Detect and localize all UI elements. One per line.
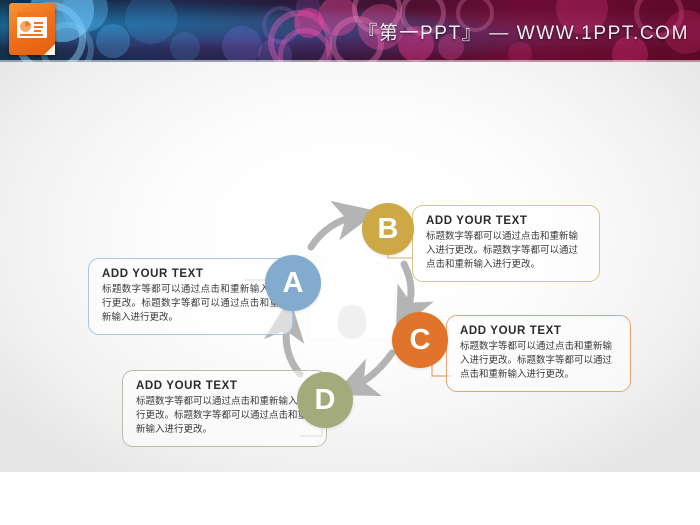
bokeh-circle <box>96 24 130 58</box>
text-box-d-title: ADD YOUR TEXT <box>136 380 313 392</box>
text-box-b[interactable]: ADD YOUR TEXT 标题数字等都可以通过点击和重新输入进行更改。标题数字… <box>412 205 600 282</box>
footer-bar: 第一PPT HTTP://WWW.1PPT.COM <box>0 472 700 525</box>
node-circle-b[interactable]: B <box>362 203 414 255</box>
text-box-c[interactable]: ADD YOUR TEXT 标题数字等都可以通过点击和重新输入进行更改。标题数字… <box>446 315 631 392</box>
bokeh-circle <box>125 0 177 44</box>
text-box-d[interactable]: ADD YOUR TEXT 标题数字等都可以通过点击和重新输入进行更改。标题数字… <box>122 370 327 447</box>
curved-arrow-c-to-d <box>354 353 392 386</box>
logo-card-shape <box>17 12 47 38</box>
text-box-c-title: ADD YOUR TEXT <box>460 325 617 337</box>
powerpoint-document-icon <box>9 3 55 55</box>
header-banner: 『第一PPT』 — WWW.1PPT.COM <box>0 0 700 62</box>
text-box-b-title: ADD YOUR TEXT <box>426 215 586 227</box>
slide-canvas: 『第一PPT』 — WWW.1PPT.COM <box>0 0 700 525</box>
logo-line <box>20 34 43 36</box>
text-box-d-body: 标题数字等都可以通过点击和重新输入进行更改。标题数字等都可以通过点击和重新输入进… <box>136 395 313 437</box>
bokeh-circle <box>508 42 532 62</box>
pie-chart-glyph <box>20 21 31 32</box>
text-box-a-title: ADD YOUR TEXT <box>102 268 279 280</box>
text-box-c-body: 标题数字等都可以通过点击和重新输入进行更改。标题数字等都可以通过点击和重新输入进… <box>460 340 617 382</box>
text-box-a-body: 标题数字等都可以通过点击和重新输入进行更改。标题数字等都可以通过点击和重新输入进… <box>102 283 279 325</box>
logo-line <box>34 22 43 24</box>
text-box-a[interactable]: ADD YOUR TEXT 标题数字等都可以通过点击和重新输入进行更改。标题数字… <box>88 258 293 335</box>
logo-line <box>34 30 41 32</box>
brand-text: 『第一PPT』 — WWW.1PPT.COM <box>358 18 689 45</box>
bokeh-circle <box>222 26 262 62</box>
node-circle-c[interactable]: C <box>392 312 448 368</box>
bokeh-circle <box>170 32 200 62</box>
node-circle-a[interactable]: A <box>265 255 321 311</box>
node-circle-d[interactable]: D <box>297 372 353 428</box>
text-box-b-body: 标题数字等都可以通过点击和重新输入进行更改。标题数字等都可以通过点击和重新输入进… <box>426 230 586 272</box>
diagram-stage: ADD YOUR TEXT 标题数字等都可以通过点击和重新输入进行更改。标题数字… <box>0 62 700 472</box>
logo-line <box>34 26 43 28</box>
